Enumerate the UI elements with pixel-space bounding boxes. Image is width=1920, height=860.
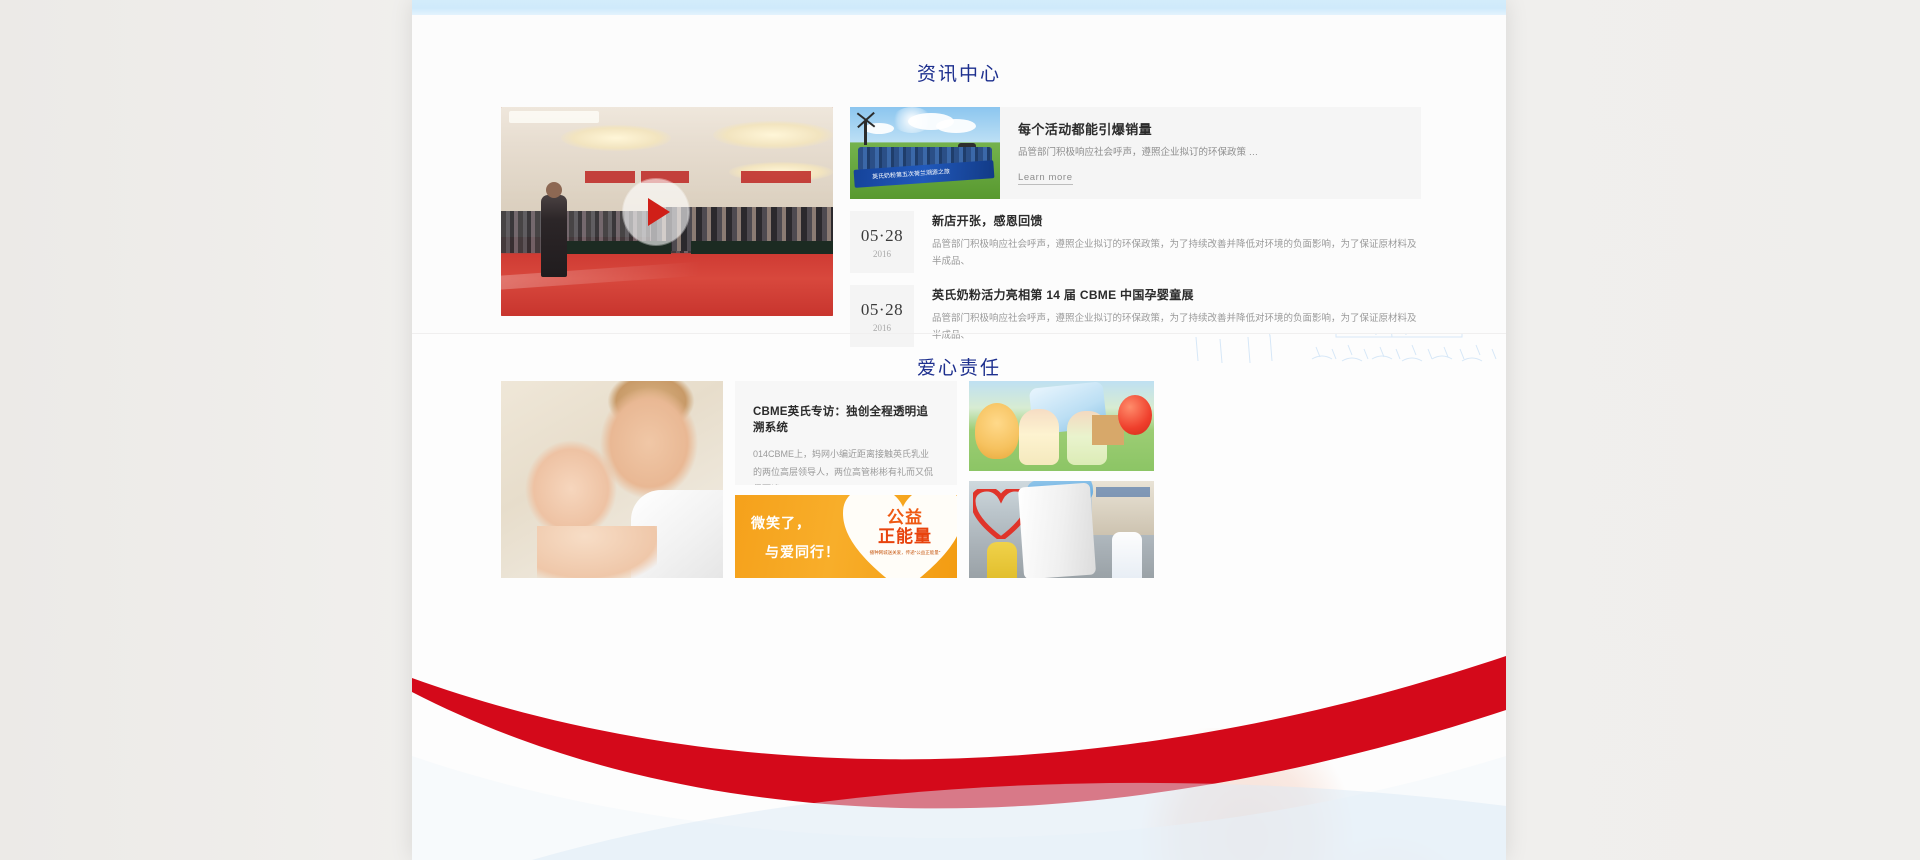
cbme-interview-excerpt: 014CBME上，妈网小编近距离接触英氏乳业的两位高层领导人，两位高管彬彬有礼而… <box>753 446 937 485</box>
windmill-icon <box>864 121 867 145</box>
featured-news-body: 每个活动都能引爆销量 品管部门积极响应社会呼声，遵照企业拟订的环保政策 … Le… <box>1000 107 1421 199</box>
charity-heart-text: 公益 正能量 播种网城送关爱，传递"公益正能量" <box>859 509 951 557</box>
shop-front <box>1092 481 1154 535</box>
group-banner-text: 英氏奶粉第五次荷兰溯源之旅 <box>872 166 950 180</box>
screen: 资讯中心 <box>0 0 1920 860</box>
cloud-icon-3 <box>864 123 894 134</box>
babies-event-card[interactable] <box>969 381 1154 471</box>
learn-more-link[interactable]: Learn more <box>1018 172 1073 185</box>
baby-background-photo <box>917 728 1506 860</box>
news-date-day: 05·28 <box>861 226 903 246</box>
red-swoosh-curve-icon <box>412 560 1506 860</box>
mother-baby-card[interactable] <box>501 381 723 578</box>
news-item-body: 新店开张，感恩回馈 品管部门积极响应社会呼声，遵照企业拟订的环保政策，为了持续改… <box>914 211 1421 273</box>
top-blue-strip <box>412 0 1506 15</box>
video-chandelier-2 <box>713 121 833 149</box>
video-light-panel <box>509 111 599 123</box>
news-list-item[interactable]: 05·28 2016 新店开张，感恩回馈 品管部门积极响应社会呼声，遵照企业拟订… <box>850 211 1421 273</box>
street-promotion-card[interactable] <box>969 481 1154 578</box>
news-date-year: 2016 <box>873 249 891 259</box>
featured-news-thumbnail: 英氏奶粉第五次荷兰溯源之旅 <box>850 107 1000 199</box>
news-video-thumbnail[interactable] <box>501 107 833 316</box>
baby-left <box>1019 409 1059 465</box>
news-content-row: 英氏奶粉第五次荷兰溯源之旅 每个活动都能引爆销量 品管部门积极响应社会呼声，遵照… <box>501 107 1421 317</box>
news-item-title: 英氏奶粉活力亮相第 14 届 CBME 中国孕婴童展 <box>932 286 1421 303</box>
news-date-badge: 05·28 2016 <box>850 211 914 273</box>
cloud-icon-2 <box>936 119 976 133</box>
charity-line-2: 与爱同行！ <box>751 542 840 562</box>
news-section-title: 资讯中心 <box>412 59 1506 86</box>
news-list-column: 英氏奶粉第五次荷兰溯源之旅 每个活动都能引爆销量 品管部门积极响应社会呼声，遵照… <box>850 107 1421 347</box>
balloon-icon <box>1118 395 1152 435</box>
news-item-excerpt: 品管部门积极响应社会呼声，遵照企业拟订的环保政策，为了持续改善并降低对环境的负面… <box>932 236 1421 270</box>
charity-banner-card[interactable]: 微笑了， 与爱同行！ 公益 正能量 播种网城送关爱，传递"公益正能量" <box>735 495 957 578</box>
care-section-title: 爱心责任 <box>412 353 1506 380</box>
news-section: 资讯中心 <box>412 15 1506 333</box>
video-speaker-person <box>541 195 567 277</box>
charity-heart-line-1: 公益 <box>859 509 951 526</box>
child-person <box>987 542 1017 578</box>
cbme-interview-title: CBME英氏专访：独创全程透明追溯系统 <box>753 403 937 435</box>
featured-news-title: 每个活动都能引爆销量 <box>1018 119 1405 138</box>
charity-heart-subtext: 播种网城送关爱，传递"公益正能量" <box>859 550 951 557</box>
charity-line-1: 微笑了， <box>751 513 840 533</box>
page-canvas: 资讯中心 <box>412 0 1506 860</box>
play-button-icon[interactable] <box>623 179 689 245</box>
lion-mascot-icon <box>975 403 1019 459</box>
baby-arm <box>537 526 657 578</box>
video-red-banner-1 <box>585 171 635 183</box>
charity-heart-line-2: 正能量 <box>859 528 951 546</box>
care-section: 爱心责任 CBME英氏专访：独创全程透明追溯系统 014CBME上，妈网小编近距… <box>412 333 1506 860</box>
charity-left-text: 微笑了， 与爱同行！ <box>751 513 840 562</box>
news-date-day: 05·28 <box>861 300 903 320</box>
news-item-title: 新店开张，感恩回馈 <box>932 212 1421 229</box>
video-red-banner-3 <box>741 171 811 183</box>
video-chandelier-1 <box>561 125 671 151</box>
featured-news-excerpt: 品管部门积极响应社会呼声，遵照企业拟订的环保政策 … <box>1018 145 1405 162</box>
news-date-year: 2016 <box>873 323 891 333</box>
staff-person <box>1112 532 1142 578</box>
cbme-interview-card[interactable]: CBME英氏专访：独创全程透明追溯系统 014CBME上，妈网小编近距离接触英氏… <box>735 381 957 485</box>
inflatable-milk-can <box>1018 483 1096 578</box>
featured-news-card[interactable]: 英氏奶粉第五次荷兰溯源之旅 每个活动都能引爆销量 品管部门积极响应社会呼声，遵照… <box>850 107 1421 199</box>
care-grid: CBME英氏专访：独创全程透明追溯系统 014CBME上，妈网小编近距离接触英氏… <box>501 381 1421 578</box>
